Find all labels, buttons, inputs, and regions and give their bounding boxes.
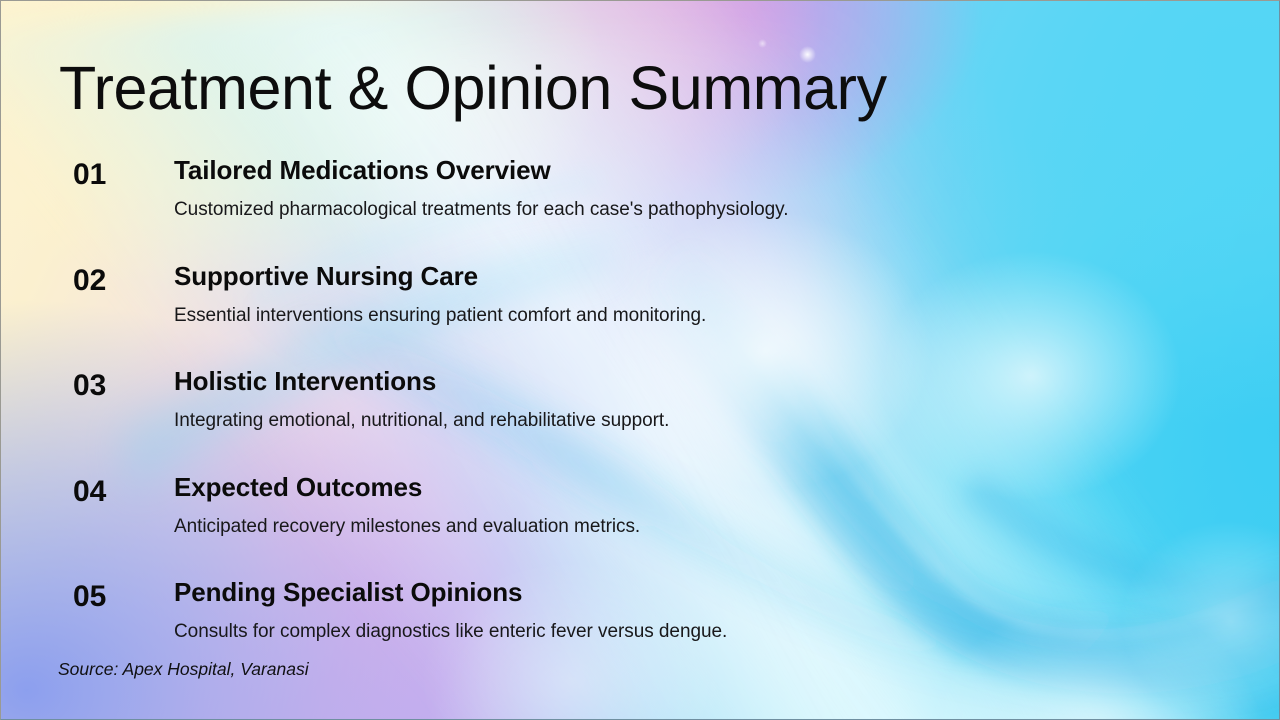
list-item-heading: Expected Outcomes bbox=[174, 472, 422, 503]
list-item-description: Customized pharmacological treatments fo… bbox=[174, 199, 788, 221]
list-item-heading: Supportive Nursing Care bbox=[174, 261, 478, 292]
slide-content: Treatment & Opinion Summary 01 Tailored … bbox=[1, 1, 1279, 719]
list-item-description: Integrating emotional, nutritional, and … bbox=[174, 410, 669, 432]
list-item-number: 04 bbox=[73, 475, 106, 509]
list-item-description: Anticipated recovery milestones and eval… bbox=[174, 516, 640, 538]
list-item-heading: Holistic Interventions bbox=[174, 366, 436, 397]
list-item-number: 05 bbox=[73, 580, 106, 614]
list-item-number: 02 bbox=[73, 264, 106, 298]
list-item-heading: Tailored Medications Overview bbox=[174, 155, 551, 186]
list-item[interactable]: 04 Expected Outcomes Anticipated recover… bbox=[1, 464, 1001, 570]
list-item-number: 03 bbox=[73, 369, 106, 403]
source-note: Source: Apex Hospital, Varanasi bbox=[58, 659, 309, 680]
numbered-list: 01 Tailored Medications Overview Customi… bbox=[1, 147, 1001, 675]
list-item-description: Essential interventions ensuring patient… bbox=[174, 305, 706, 327]
list-item-number: 01 bbox=[73, 158, 106, 192]
page-title: Treatment & Opinion Summary bbox=[59, 58, 887, 119]
list-item[interactable]: 01 Tailored Medications Overview Customi… bbox=[1, 147, 1001, 253]
list-item[interactable]: 02 Supportive Nursing Care Essential int… bbox=[1, 253, 1001, 359]
slide-canvas: Treatment & Opinion Summary 01 Tailored … bbox=[0, 0, 1280, 720]
list-item-description: Consults for complex diagnostics like en… bbox=[174, 621, 727, 643]
list-item-heading: Pending Specialist Opinions bbox=[174, 577, 522, 608]
list-item[interactable]: 03 Holistic Interventions Integrating em… bbox=[1, 358, 1001, 464]
